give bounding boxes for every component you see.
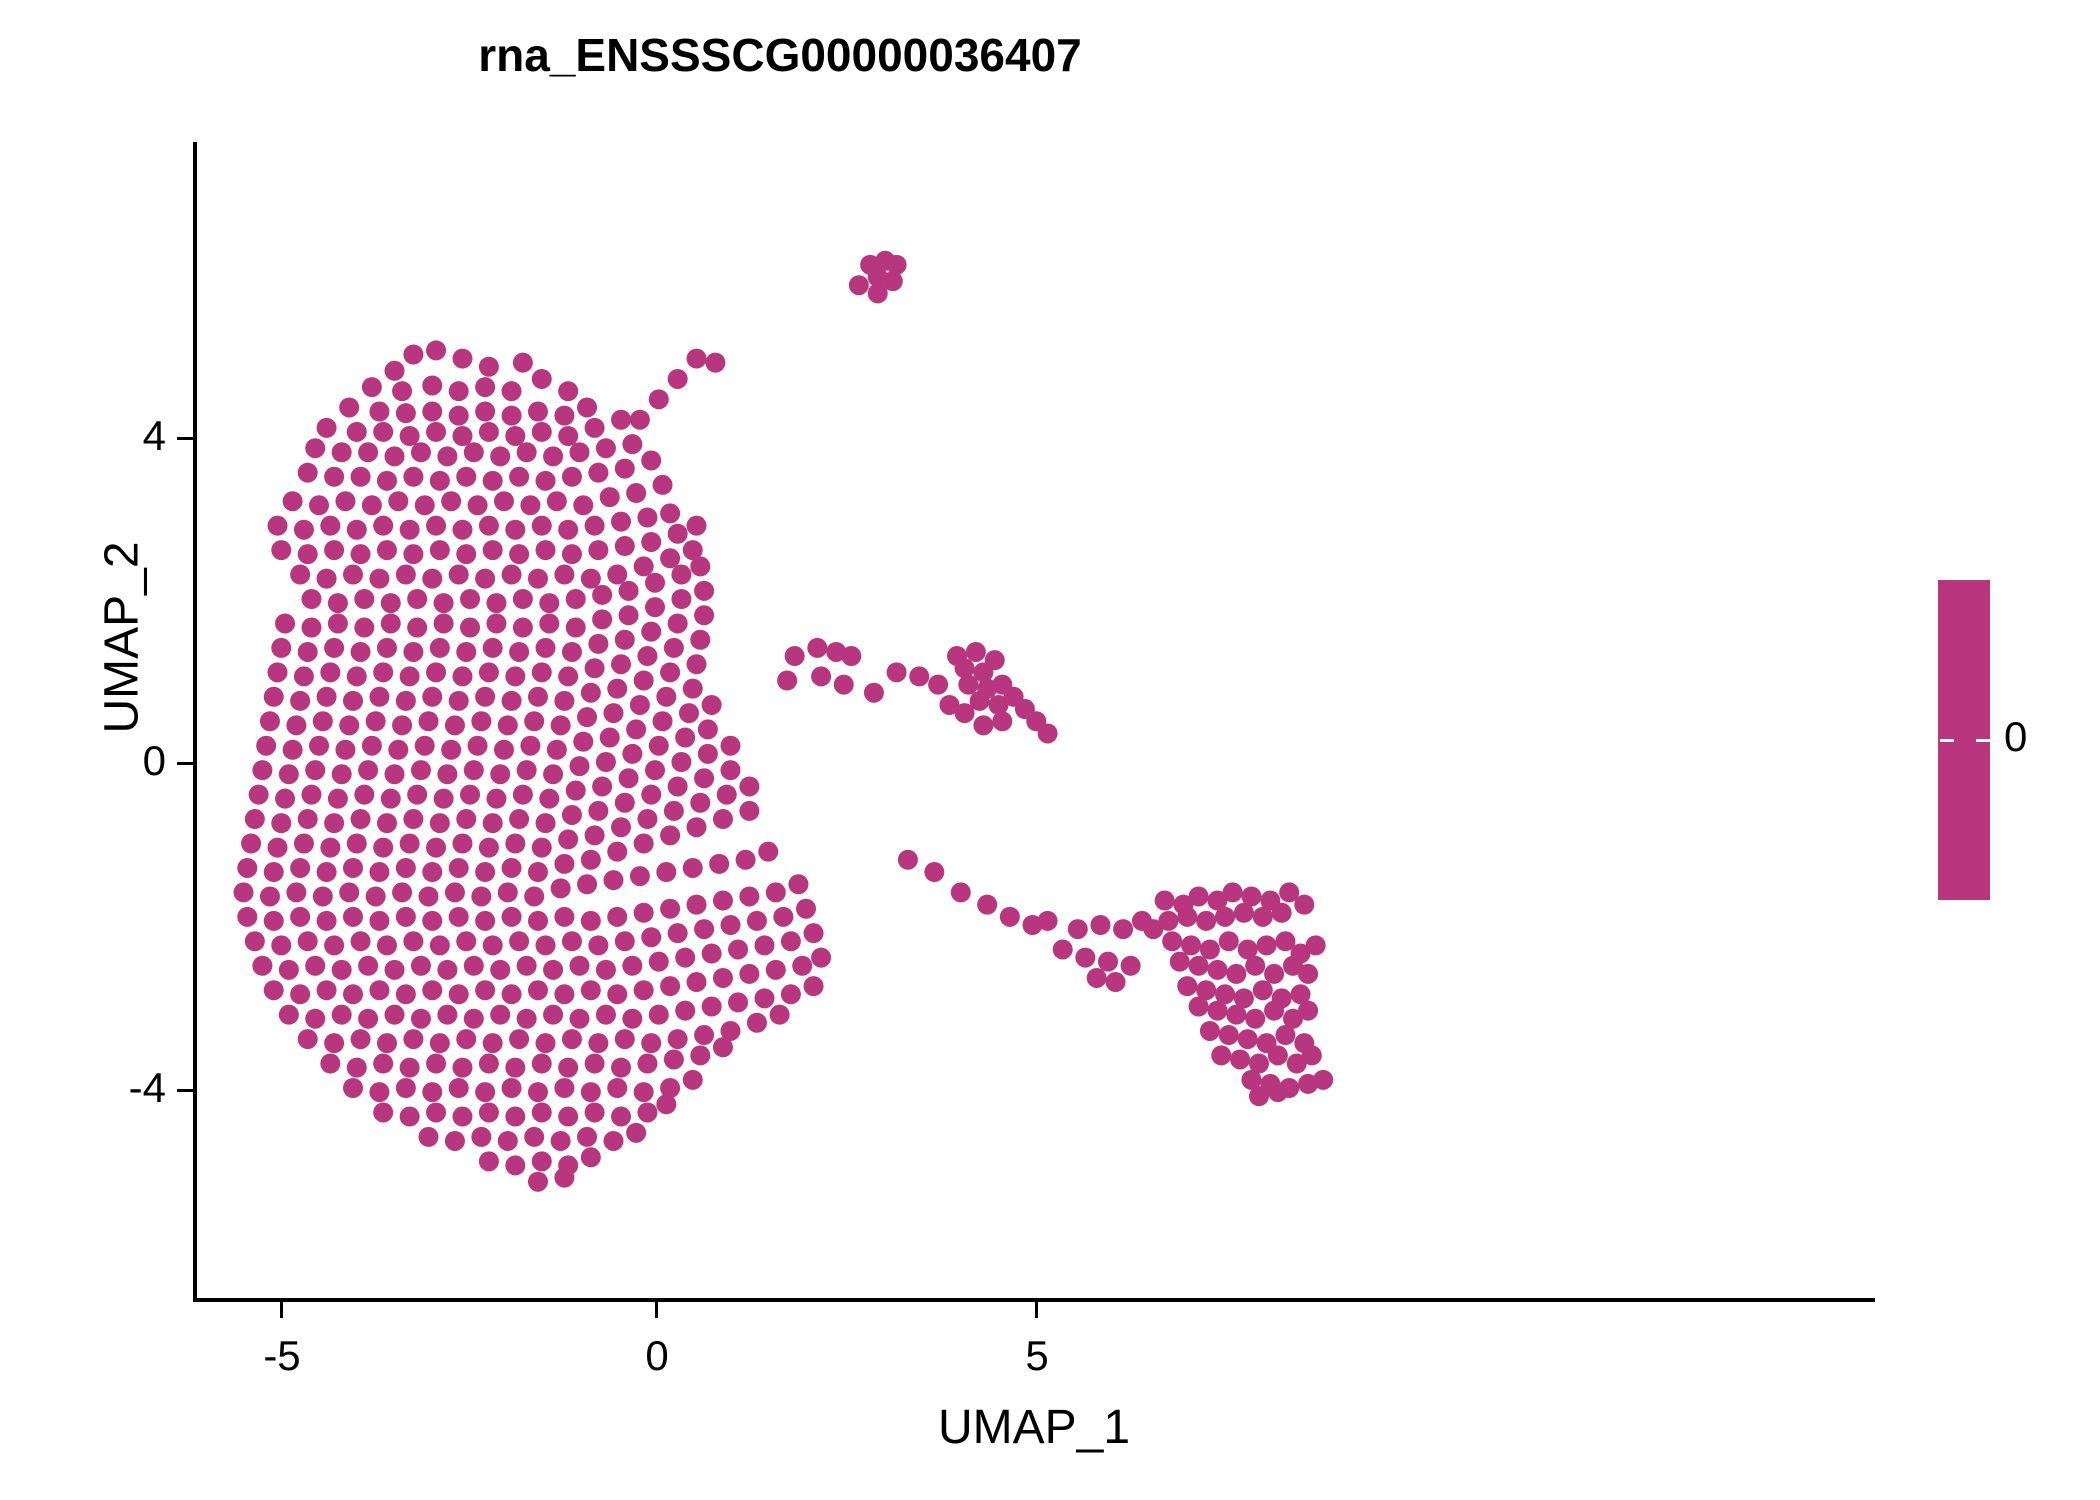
data-point (558, 381, 578, 401)
data-point (479, 1054, 499, 1074)
data-point (460, 785, 480, 805)
data-point (475, 687, 495, 707)
data-point (811, 666, 831, 686)
data-point (660, 825, 680, 845)
data-point (351, 544, 371, 564)
data-point (373, 516, 393, 536)
data-point (1075, 948, 1095, 968)
data-point (298, 1029, 318, 1049)
data-point (577, 397, 597, 417)
data-point (517, 442, 537, 462)
data-point (241, 834, 261, 854)
data-point (385, 446, 405, 466)
data-point (343, 984, 363, 1004)
data-point (252, 760, 272, 780)
data-point (702, 944, 722, 964)
data-point (615, 459, 635, 479)
data-point (317, 418, 337, 438)
data-point (422, 687, 442, 707)
data-point (354, 618, 374, 638)
data-point (305, 760, 325, 780)
data-point (713, 891, 733, 911)
data-point (1121, 956, 1141, 976)
data-point (347, 834, 367, 854)
data-point (513, 785, 533, 805)
data-point (702, 695, 722, 715)
data-point (603, 703, 623, 723)
data-point (490, 446, 510, 466)
data-point (690, 556, 710, 576)
data-point (498, 715, 518, 735)
data-point (634, 980, 654, 1000)
data-point (1264, 1001, 1284, 1021)
data-point (407, 618, 427, 638)
data-point (554, 565, 574, 585)
data-point (622, 434, 642, 454)
data-point (343, 691, 363, 711)
data-point (532, 838, 552, 858)
data-point (1211, 1045, 1231, 1065)
data-point (887, 255, 907, 275)
data-point (788, 874, 808, 894)
data-point (419, 711, 439, 731)
data-point (570, 442, 590, 462)
data-point (264, 980, 284, 1000)
data-point (656, 1094, 676, 1114)
data-point (335, 491, 355, 511)
data-point (509, 642, 529, 662)
data-point (702, 997, 722, 1017)
data-point (358, 760, 378, 780)
data-point (558, 520, 578, 540)
data-point (1162, 931, 1182, 951)
data-point (377, 471, 397, 491)
data-point (298, 642, 318, 662)
data-point (385, 361, 405, 381)
data-point (332, 442, 352, 462)
data-point (1287, 1054, 1307, 1074)
data-point (883, 271, 903, 291)
data-point (260, 711, 280, 731)
data-point (396, 403, 416, 423)
data-point (430, 935, 450, 955)
data-point (607, 1078, 627, 1098)
y-tick-label-neg4: -4 (48, 1064, 166, 1112)
data-point (456, 467, 476, 487)
data-point (456, 544, 476, 564)
data-point (403, 467, 423, 487)
data-point (1026, 711, 1046, 731)
data-point (324, 935, 344, 955)
data-point (641, 785, 661, 805)
data-point (1106, 972, 1126, 992)
data-point (687, 654, 707, 674)
data-point (422, 375, 442, 395)
data-point (502, 381, 522, 401)
data-point (649, 736, 669, 756)
data-point (739, 886, 759, 906)
data-point (396, 1078, 416, 1098)
data-point (513, 618, 533, 638)
data-point (377, 813, 397, 833)
data-point (456, 642, 476, 662)
data-point (1189, 886, 1209, 906)
data-point (554, 984, 574, 1004)
data-point (781, 984, 801, 1004)
data-point (721, 760, 741, 780)
data-point (634, 556, 654, 576)
data-point (407, 785, 427, 805)
data-point (558, 426, 578, 446)
data-point (385, 1005, 405, 1025)
data-point (585, 418, 605, 438)
data-point (403, 809, 423, 829)
data-point (294, 666, 314, 686)
data-point (358, 956, 378, 976)
data-point (301, 785, 321, 805)
data-point (486, 613, 506, 633)
data-point (324, 813, 344, 833)
data-point (373, 1054, 393, 1074)
data-point (407, 589, 427, 609)
x-tick-label-neg5: -5 (220, 1332, 344, 1380)
data-point (1189, 956, 1209, 976)
data-point (588, 463, 608, 483)
data-point (290, 565, 310, 585)
data-point (271, 540, 291, 560)
data-point (675, 948, 695, 968)
colorbar-tick-left-icon (1940, 739, 1954, 742)
data-point (951, 882, 971, 902)
data-point (373, 422, 393, 442)
data-point (536, 540, 556, 560)
data-point (483, 1033, 503, 1053)
data-point (301, 618, 321, 638)
data-point (369, 862, 389, 882)
data-point (641, 1033, 661, 1053)
data-point (400, 520, 420, 540)
data-point (728, 939, 748, 959)
data-point (332, 960, 352, 980)
data-point (1090, 915, 1110, 935)
data-point (452, 520, 472, 540)
data-point (528, 569, 548, 589)
data-point (543, 1005, 563, 1025)
data-point (698, 744, 718, 764)
data-point (619, 768, 639, 788)
data-point (264, 862, 284, 882)
data-point (347, 666, 367, 686)
data-point (362, 495, 382, 515)
data-point (671, 752, 691, 772)
data-point (1283, 956, 1303, 976)
data-point (1313, 1070, 1333, 1090)
y-tick-mark-0 (177, 762, 193, 765)
data-point (804, 923, 824, 943)
data-point (528, 687, 548, 707)
data-point (449, 858, 469, 878)
data-point (452, 426, 472, 446)
data-point (668, 776, 688, 796)
data-point (1143, 919, 1163, 939)
data-point (551, 878, 571, 898)
data-point (520, 736, 540, 756)
data-point (687, 895, 707, 915)
data-point (513, 589, 533, 609)
data-point (1298, 1074, 1318, 1094)
data-point (1230, 1049, 1250, 1069)
data-point (607, 907, 627, 927)
data-point (698, 719, 718, 739)
data-point (513, 353, 533, 373)
data-point (611, 817, 631, 837)
data-point (290, 858, 310, 878)
data-point (690, 1045, 710, 1065)
data-point (524, 886, 544, 906)
data-point (317, 687, 337, 707)
data-point (471, 1127, 491, 1147)
data-point (298, 463, 318, 483)
data-point (347, 422, 367, 442)
data-point (1264, 964, 1284, 984)
data-point (928, 675, 948, 695)
data-point (509, 809, 529, 829)
data-point (445, 1131, 465, 1151)
data-point (1298, 1001, 1318, 1021)
data-point (653, 711, 673, 731)
data-point (415, 495, 435, 515)
data-point (403, 345, 423, 365)
data-point (592, 776, 612, 796)
data-point (600, 487, 620, 507)
page-title: rna_ENSSSCG00000036407 (0, 28, 1560, 82)
data-point (721, 736, 741, 756)
data-point (502, 565, 522, 585)
data-point (483, 935, 503, 955)
data-point (400, 666, 420, 686)
data-point (475, 862, 495, 882)
data-point (611, 512, 631, 532)
data-point (351, 642, 371, 662)
data-point (547, 491, 567, 511)
scatter-plot-area (0, 0, 2100, 1500)
data-point (1306, 935, 1326, 955)
data-point (271, 935, 291, 955)
data-point (528, 862, 548, 882)
data-point (400, 1107, 420, 1127)
data-point (596, 438, 616, 458)
data-point (675, 728, 695, 748)
data-point (588, 1033, 608, 1053)
data-point (339, 882, 359, 902)
data-point (1181, 935, 1201, 955)
data-point (449, 1078, 469, 1098)
data-point (275, 613, 295, 633)
data-point (486, 789, 506, 809)
data-point (1207, 1001, 1227, 1021)
data-point (369, 1082, 389, 1102)
data-point (645, 597, 665, 617)
data-point (1283, 1009, 1303, 1029)
data-point (426, 422, 446, 442)
data-point (596, 1005, 616, 1025)
data-point (811, 948, 831, 968)
data-point (320, 1054, 340, 1074)
data-point (1275, 931, 1295, 951)
data-point (615, 793, 635, 813)
data-point (373, 662, 393, 682)
data-point (479, 516, 499, 536)
data-point (1294, 895, 1314, 915)
data-point (524, 711, 544, 731)
data-point (615, 931, 635, 951)
data-point (554, 854, 574, 874)
data-point (577, 1127, 597, 1147)
data-point (585, 1102, 605, 1122)
data-point (1291, 984, 1311, 1004)
data-point (354, 589, 374, 609)
data-point (449, 381, 469, 401)
data-point (585, 516, 605, 536)
data-point (286, 715, 306, 735)
data-point (554, 691, 574, 711)
data-point (320, 662, 340, 682)
data-point (649, 389, 669, 409)
data-point (1196, 911, 1216, 931)
data-point (502, 907, 522, 927)
data-point (558, 1107, 578, 1127)
data-point (419, 1127, 439, 1147)
data-point (437, 446, 457, 466)
data-point (875, 251, 895, 271)
data-point (592, 609, 612, 629)
data-point (502, 1078, 522, 1098)
data-point (796, 899, 816, 919)
data-point (400, 834, 420, 854)
data-point (264, 911, 284, 931)
data-point (562, 1029, 582, 1049)
data-point (479, 357, 499, 377)
data-point (339, 397, 359, 417)
data-point (347, 1058, 367, 1078)
data-point (611, 654, 631, 674)
data-point (694, 605, 714, 625)
data-point (622, 1009, 642, 1029)
data-point (887, 662, 907, 682)
data-point (290, 691, 310, 711)
data-point (660, 976, 680, 996)
data-point (426, 838, 446, 858)
data-point (989, 695, 1009, 715)
data-point (747, 1013, 767, 1033)
data-point (630, 695, 650, 715)
data-point (543, 446, 563, 466)
data-point (713, 809, 733, 829)
data-point (445, 715, 465, 735)
data-point (502, 691, 522, 711)
data-point (607, 984, 627, 1004)
data-point (502, 984, 522, 1004)
data-point (279, 764, 299, 784)
data-point (332, 1005, 352, 1025)
data-point (653, 475, 673, 495)
data-point (392, 715, 412, 735)
data-point (449, 565, 469, 585)
data-point (422, 402, 442, 422)
data-point (615, 630, 635, 650)
data-point (479, 662, 499, 682)
data-point (1260, 891, 1280, 911)
x-tick-mark-0 (655, 1302, 658, 1318)
data-point (868, 267, 888, 287)
data-point (721, 1021, 741, 1041)
data-point (1245, 1009, 1265, 1029)
data-point (626, 1123, 646, 1143)
data-point (1200, 939, 1220, 959)
data-point (603, 870, 623, 890)
data-point (449, 691, 469, 711)
data-point (403, 931, 423, 951)
data-point (1238, 939, 1258, 959)
data-point (505, 1058, 525, 1078)
data-point (992, 711, 1012, 731)
data-point (683, 540, 703, 560)
data-point (441, 740, 461, 760)
data-point (464, 442, 484, 462)
data-point (1113, 919, 1133, 939)
data-point (324, 540, 344, 560)
data-point (452, 666, 472, 686)
data-point (1234, 903, 1254, 923)
data-point (634, 834, 654, 854)
data-point (486, 593, 506, 613)
data-point (1272, 988, 1292, 1008)
data-point (317, 862, 337, 882)
data-point (619, 605, 639, 625)
data-point (634, 671, 654, 691)
data-point (1177, 976, 1197, 996)
data-point (385, 764, 405, 784)
data-point (324, 1033, 344, 1053)
data-point (1253, 980, 1273, 1000)
data-point (687, 516, 707, 536)
data-point (573, 495, 593, 515)
data-point (758, 842, 778, 862)
data-point (754, 988, 774, 1008)
data-point (245, 809, 265, 829)
data-point (505, 666, 525, 686)
data-point (347, 520, 367, 540)
data-point (1015, 699, 1035, 719)
data-point (713, 968, 733, 988)
data-point (958, 675, 978, 695)
data-point (585, 658, 605, 678)
data-point (1219, 1025, 1239, 1045)
data-point (290, 907, 310, 927)
data-point (588, 634, 608, 654)
data-point (381, 613, 401, 633)
data-point (351, 467, 371, 487)
data-point (1223, 882, 1243, 902)
data-point (596, 752, 616, 772)
data-point (1189, 997, 1209, 1017)
data-point (237, 858, 257, 878)
data-point (970, 691, 990, 711)
data-point (294, 834, 314, 854)
data-point (562, 805, 582, 825)
data-point (434, 613, 454, 633)
data-point (411, 760, 431, 780)
